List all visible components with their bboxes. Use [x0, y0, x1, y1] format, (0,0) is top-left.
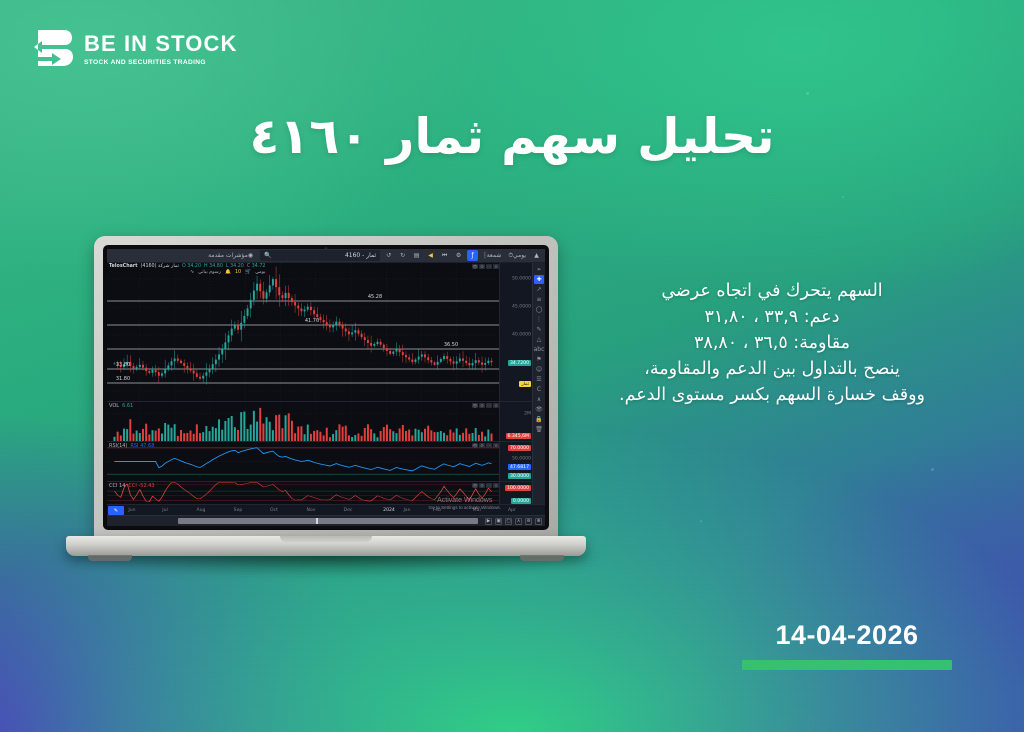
price-pane[interactable]: TelosChart ثمار شركة (4160) O 34.20 H 34… — [107, 263, 532, 401]
ohlc-open-value: 34.20 — [187, 264, 201, 269]
price-tick-50: 50.0000 — [512, 277, 531, 282]
analysis-line-support: دعم: ٣٣,٩ ، ٣١,٨٠ — [562, 304, 982, 330]
price-annotation-3380: 33.80 — [116, 362, 130, 368]
pane-settings-icon[interactable]: ⚙ — [479, 483, 485, 488]
toolbar-settings-button[interactable]: ⚙ — [453, 250, 464, 261]
time-tick: Jun — [128, 508, 135, 513]
chart-symbol: ثمار شركة (4160) — [141, 264, 179, 269]
chart-reset-icon[interactable]: ▶ — [485, 518, 492, 525]
rsi-line-svg — [107, 442, 499, 481]
cci-legend: CCI 14 CCI -52.43 — [109, 483, 155, 489]
pane-more-icon[interactable]: ⋯ — [486, 264, 492, 269]
measure-icon[interactable]: ⋮ — [534, 315, 544, 324]
sparkle — [806, 92, 809, 95]
arrows-cycle-b-icon — [30, 26, 74, 72]
symbol-badge: ثمار — [519, 381, 531, 387]
volume-tick-2m: 2M — [524, 412, 531, 417]
laptop-foot-right — [520, 555, 564, 561]
pane-close-icon[interactable]: ✕ — [493, 443, 499, 448]
toolbar-interval-button[interactable]: ⏱ يومي — [506, 250, 528, 261]
page-title: تحليل سهم ثمار ٤١٦٠ — [0, 108, 1024, 165]
price-annotation-4170: 41.70 — [305, 318, 319, 324]
analysis-line-resistance: مقاومة: ٣٦,٥ ، ٣٨,٨٠ — [562, 330, 982, 356]
target-icon: ◉ — [248, 252, 253, 259]
laptop-base — [66, 536, 586, 556]
trendline-icon[interactable]: ↗ — [534, 285, 544, 294]
fx-icon: ƒ — [472, 252, 474, 259]
ohlc-open-label: O — [182, 264, 186, 269]
volume-scale[interactable]: 2M 6.345,6M — [499, 402, 532, 441]
chart-brand: TelosChart — [109, 264, 138, 269]
pane-close-icon[interactable]: ✕ — [493, 264, 499, 269]
symbol-search-value: ثمار - 4160 — [345, 252, 376, 259]
cci-pane-controls[interactable]: 👁 ⚙ ⋯ ✕ — [472, 483, 499, 488]
rsi-legend: RSI(14) RSI 47.68 — [109, 443, 154, 449]
laptop-notch — [280, 536, 372, 542]
cci-legend-label: CCI 14 — [109, 483, 125, 489]
pencil-icon[interactable]: ✎ — [108, 506, 124, 515]
toolbar-forward-indicators-button[interactable]: مؤشرات مقدمة ◉ — [206, 250, 257, 261]
volume-legend-label: VOL — [109, 403, 119, 409]
magnet-icon[interactable]: ∧ — [515, 518, 522, 525]
analysis-text: السهم يتحرك في اتجاه عرضي دعم: ٣٣,٩ ، ٣١… — [562, 278, 982, 408]
price-scale[interactable]: 50.0000 45.0000 40.0000 34.7200 ثمار — [499, 263, 532, 401]
rsi-pane[interactable]: RSI(14) RSI 47.68 👁 ⚙ ⋯ ✕ — [107, 441, 532, 481]
time-scrollbar[interactable] — [178, 518, 478, 524]
fib-icon[interactable]: ≡ — [534, 295, 544, 304]
analysis-line: ينصح بالتداول بين الدعم والمقاومة، — [562, 356, 982, 382]
auto-scale-icon[interactable]: ▣ — [495, 518, 502, 525]
brand-logo: BE IN STOCK STOCK AND SECURITIES TRADING — [30, 26, 238, 72]
redo-icon: ↻ — [400, 252, 405, 259]
volume-legend-value: 6.61 — [122, 403, 133, 409]
volume-legend: VOL 6.61 — [109, 403, 133, 409]
symbol-search-input[interactable]: ثمار - 4160 🔍 — [260, 250, 380, 261]
ohlc-row: TelosChart ثمار شركة (4160) O 34.20 H 34… — [109, 264, 265, 269]
toolbar-template-button[interactable]: ▤ — [411, 250, 422, 261]
toolbar-candles-label: شمعة — [487, 252, 502, 259]
brand-text: BE IN STOCK STOCK AND SECURITIES TRADING — [84, 33, 238, 66]
rsi-legend-value: RSI 47.68 — [130, 443, 154, 449]
fit-icon[interactable]: ▢ — [505, 518, 512, 525]
date-underline — [742, 660, 952, 670]
pane-more-icon[interactable]: ⋯ — [486, 443, 492, 448]
toolbar-replay-button[interactable]: ⏮ — [439, 250, 450, 261]
rsi-legend-label: RSI(14) — [109, 443, 127, 449]
price-pane-controls[interactable]: 👁 ⚙ ⋯ ✕ — [472, 264, 499, 269]
price-tick-40: 40.0000 — [512, 333, 531, 338]
time-tick: Feb — [433, 508, 441, 513]
time-tick: Apr — [508, 508, 516, 513]
text-icon[interactable]: abc — [534, 345, 544, 354]
rsi-tick-50: 50.0000 — [512, 457, 531, 462]
ohlc-low-value: 34.20 — [230, 264, 244, 269]
time-tick: Jul — [162, 508, 168, 513]
rsi-plot[interactable] — [107, 442, 499, 481]
volume-pane[interactable]: VOL 6.61 👁 ⚙ ⋯ ✕ — [107, 401, 532, 441]
laptop-lid: ▲ ⏱ يومي ┆ شمعة ƒ ⚙ ⏮ ◀ ▤ — [94, 236, 558, 544]
wave-icon: ∿ — [190, 270, 194, 275]
toolbar-alert-button[interactable]: ◀ — [425, 250, 436, 261]
zoom-out-icon[interactable]: ⊖ — [525, 518, 532, 525]
eye-icon[interactable]: 👁 — [534, 405, 544, 414]
analysis-line: ووقف خسارة السهم بكسر مستوى الدعم. — [562, 382, 982, 408]
volume-plot[interactable] — [107, 402, 499, 441]
pane-eye-icon[interactable]: 👁 — [472, 443, 478, 448]
sparkle — [931, 468, 934, 471]
time-tick: Jan — [403, 508, 410, 513]
rsi-oversold-badge: 30.0000 — [508, 473, 531, 479]
time-tick: Aug — [197, 508, 206, 513]
magnet-icon[interactable]: ∧ — [534, 395, 544, 404]
laptop-bezel: ▲ ⏱ يومي ┆ شمعة ƒ ⚙ ⏮ ◀ ▤ — [103, 245, 549, 530]
cart-icon[interactable]: 🛒 — [245, 270, 251, 275]
crosshair-icon[interactable]: ✚ — [534, 275, 544, 284]
rsi-scale[interactable]: 70.0000 50.0000 47.6817 30.0000 — [499, 442, 532, 481]
chart-interval-label[interactable]: يومي — [255, 270, 265, 275]
chart-info-bar: TelosChart ثمار شركة (4160) O 34.20 H 34… — [109, 264, 265, 275]
chart-status-bar: ▶ ▣ ▢ ∧ ⊖ ⊕ — [107, 515, 545, 526]
price-annotation-3650: 36.50 — [444, 342, 458, 348]
list-icon[interactable]: ☰ — [534, 375, 544, 384]
time-axis[interactable]: ✎ Jun Jul Aug Sep Oct Nov Dec 2024 Jan F… — [107, 504, 545, 515]
sparkle — [842, 196, 844, 198]
pane-close-icon[interactable]: ✕ — [493, 483, 499, 488]
emoji-icon[interactable]: ☺ — [534, 365, 544, 374]
cci-plot[interactable] — [107, 482, 499, 504]
drawing-tools-rail: ➢ ✚ ↗ ≡ ◯ ⋮ ✎ △ abc ⚑ ☺ ☰ C ∧ 👁 — [532, 263, 545, 504]
toolbar-alert-label: مؤشرات مقدمة — [208, 252, 248, 259]
pane-close-icon[interactable]: ✕ — [493, 403, 499, 408]
chart-meta-row: يومي 🛒 10 🔔 رسوم بياني ∿ — [109, 270, 265, 275]
time-tick: Oct — [270, 508, 278, 513]
compare-icon[interactable]: C — [534, 385, 544, 394]
toolbar-interval-label: يومي — [513, 252, 526, 259]
ohlc-high-label: H — [204, 264, 208, 269]
replay-icon: ⏮ — [442, 252, 447, 260]
rsi-value-badge: 47.6817 — [508, 464, 531, 470]
date-block: 14-04-2026 — [742, 620, 952, 670]
ohlc-high-value: 34.80 — [209, 264, 223, 269]
pane-settings-icon[interactable]: ⚙ — [479, 264, 485, 269]
time-tick: Nov — [307, 508, 316, 513]
cci-line-svg — [107, 482, 499, 504]
trading-chart-app: ▲ ⏱ يومي ┆ شمعة ƒ ⚙ ⏮ ◀ ▤ — [107, 249, 545, 526]
rsi-overbought-badge: 70.0000 — [508, 445, 531, 451]
pattern-icon[interactable]: △ — [534, 335, 544, 344]
toolbar-undo-button[interactable]: ↺ — [383, 250, 394, 261]
brand-name: BE IN STOCK — [84, 33, 238, 55]
sparkle — [700, 520, 702, 522]
toolbar-redo-button[interactable]: ↻ — [397, 250, 408, 261]
pane-eye-icon[interactable]: 👁 — [472, 403, 478, 408]
price-annotation-3180: 31.80 — [116, 376, 130, 382]
brush-icon[interactable]: ✎ — [534, 325, 544, 334]
ohlc-low-label: L — [226, 264, 229, 269]
time-scrollbar-thumb[interactable] — [316, 518, 318, 524]
toolbar-publish-button[interactable]: ▲ — [531, 250, 542, 261]
pane-eye-icon[interactable]: 👁 — [472, 483, 478, 488]
shapes-icon[interactable]: ◯ — [534, 305, 544, 314]
bell-icon: ◀ — [428, 252, 433, 259]
lock-icon[interactable]: 🔒 — [534, 415, 544, 424]
time-tick-year: 2024 — [383, 508, 395, 513]
zoom-in-icon[interactable]: ⊕ — [535, 518, 542, 525]
last-price-badge: 34.7200 — [508, 360, 531, 366]
pane-settings-icon[interactable]: ⚙ — [479, 403, 485, 408]
pane-more-icon[interactable]: ⋯ — [486, 403, 492, 408]
alerts-count: 10 — [235, 270, 241, 275]
time-tick: Sep — [234, 508, 243, 513]
toolbar-candles-button[interactable]: ┆ شمعة — [481, 250, 503, 261]
magnifier-icon: 🔍 — [264, 252, 271, 259]
cci-upper-badge: 100.0000 — [505, 485, 531, 491]
ohlc-close-label: C — [247, 264, 250, 269]
pane-more-icon[interactable]: ⋯ — [486, 483, 492, 488]
pane-settings-icon[interactable]: ⚙ — [479, 443, 485, 448]
ohlc-close-value: 34.72 — [252, 264, 266, 269]
undo-icon: ↺ — [386, 252, 391, 259]
template-icon: ▤ — [414, 252, 420, 259]
price-plot[interactable] — [107, 263, 499, 401]
laptop-mockup: ▲ ⏱ يومي ┆ شمعة ƒ ⚙ ⏮ ◀ ▤ — [66, 236, 586, 586]
price-tick-45: 45.0000 — [512, 305, 531, 310]
gear-icon: ⚙ — [456, 252, 461, 259]
candlestick-svg — [107, 263, 499, 401]
chart-body: TelosChart ثمار شركة (4160) O 34.20 H 34… — [107, 263, 545, 504]
trash-icon[interactable]: 🗑 — [534, 425, 544, 434]
volume-last-badge: 6.345,6M — [506, 433, 532, 439]
price-annotation-4528: 45.28 — [368, 294, 382, 300]
chart-panes: TelosChart ثمار شركة (4160) O 34.20 H 34… — [107, 263, 532, 504]
rsi-pane-controls[interactable]: 👁 ⚙ ⋯ ✕ — [472, 443, 499, 448]
brand-tagline: STOCK AND SECURITIES TRADING — [84, 59, 238, 66]
flag-icon[interactable]: ⚑ — [534, 355, 544, 364]
toolbar-indicators-button[interactable]: ƒ — [467, 250, 478, 261]
time-tick: Dec — [344, 508, 353, 513]
volume-bars-svg — [107, 402, 499, 441]
analysis-line: السهم يتحرك في اتجاه عرضي — [562, 278, 982, 304]
date-text: 14-04-2026 — [742, 620, 952, 651]
pane-eye-icon[interactable]: 👁 — [472, 264, 478, 269]
cursor-icon[interactable]: ➢ — [534, 265, 544, 274]
laptop-foot-left — [88, 555, 132, 561]
bell-icon[interactable]: 🔔 — [225, 270, 231, 275]
chart-type-label[interactable]: رسوم بياني — [198, 270, 221, 275]
time-tick: Mar — [473, 508, 482, 513]
cci-pane[interactable]: CCI 14 CCI -52.43 👁 ⚙ ⋯ ✕ — [107, 481, 532, 504]
volume-pane-controls[interactable]: 👁 ⚙ ⋯ ✕ — [472, 403, 499, 408]
chart-toolbar: ▲ ⏱ يومي ┆ شمعة ƒ ⚙ ⏮ ◀ ▤ — [107, 249, 545, 263]
cci-legend-value: CCI -52.43 — [128, 483, 154, 489]
cci-scale[interactable]: 100.0000 0.0000 -52.4300 -100.0000 — [499, 482, 532, 504]
